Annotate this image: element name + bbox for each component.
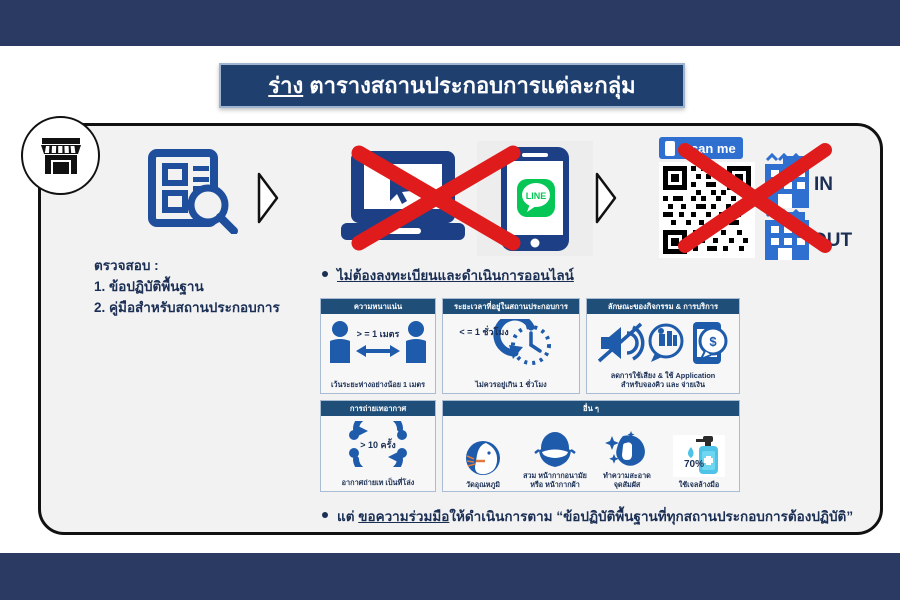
storefront-badge (21, 116, 100, 195)
title-main: ตารางสถานประกอบการแต่ละกลุ่ม (303, 73, 635, 98)
others-item-cleaning-caption-line2: จุดสัมผัส (603, 480, 651, 489)
in-label: IN (814, 174, 833, 195)
line-label: LINE (526, 191, 547, 201)
page-title: ร่าง ตารางสถานประกอบการแต่ละกลุ่ม (268, 75, 635, 97)
out-label: OUT (812, 230, 853, 251)
bullet-bottom-suffix: ให้ดำเนินการตาม “ข้อปฏิบัติพื้นฐานที่ทุก… (449, 509, 853, 524)
flow-arrow-1 (256, 171, 280, 230)
triangle-right-arrow-icon (594, 171, 618, 225)
title-prefix: ร่าง (268, 73, 303, 98)
document-search-icon (146, 148, 242, 234)
flow-arrow-2 (594, 171, 618, 230)
card-density-caption: เว้นระยะห่างอย่างน้อย 1 เมตร (331, 380, 425, 389)
face-mask-icon (533, 430, 577, 468)
card-density-body: > = 1 เมตร เว้นระยะห่างอย่างน้อย 1 เมตร (321, 314, 435, 393)
card-ventilation-caption: อากาศถ่ายเท เป็นที่โล่ง (342, 478, 415, 487)
bullet-dot-icon (322, 271, 328, 277)
flow-step-online-registration: LINE (341, 141, 593, 261)
hand-sanitizer-icon: 70% (673, 435, 725, 477)
svg-text:$: $ (709, 334, 717, 349)
bullet-bottom-prefix: แต่ (337, 509, 358, 524)
slide-title-banner: ร่าง ตารางสถานประกอบการแต่ละกลุ่ม (219, 63, 685, 108)
bullet-dot-icon (322, 512, 328, 518)
activity-icons-group: $ (593, 319, 733, 367)
bullet-top-text: ไม่ต้องลงทะเบียนและดำเนินการออนไลน์ (337, 264, 574, 286)
checklist-heading: ตรวจสอบ : (94, 256, 309, 277)
duration-metric-label: < = 1 ชั่วโมง (459, 325, 508, 337)
speaker-muted-icon (599, 324, 643, 361)
bullet-bottom-underlined: ขอความร่วมมือ (358, 509, 449, 524)
laptop-cursor-icon: LINE (341, 141, 593, 256)
card-ventilation: การถ่ายเทอากาศ > 10 ครั้ง อากาศถ่ายเท เป… (320, 400, 436, 492)
card-activity-header: ลักษณะของกิจกรรม & การบริการ (587, 299, 739, 314)
building-out-icon (765, 211, 809, 260)
others-item-temperature-caption: วัดอุณหภูมิ (466, 480, 500, 489)
card-activity-body: $ ลดการใช้เสียง & ใช้ Application สำหรับ… (587, 314, 739, 393)
bullet-no-online-registration: ไม่ต้องลงทะเบียนและดำเนินการออนไลน์ (322, 264, 574, 286)
others-item-cleaning-caption-line1: ทำความสะอาด (603, 471, 651, 480)
sanitizer-percent-badge: 70% (684, 459, 704, 470)
density-metric-label: > = 1 เมตร (357, 329, 400, 339)
others-items-list: วัดอุณหภูมิ สวม หน้ากากอนามัย (443, 416, 739, 491)
cleaning-hand-icon (605, 430, 649, 468)
others-item-temperature: วัดอุณหภูมิ (448, 439, 518, 489)
checklist-item-1: 1. ข้อปฏิบัติพื้นฐาน (94, 277, 309, 298)
two-people-distance-icon: > = 1 เมตร (326, 319, 430, 365)
ventilation-metric-label: > 10 ครั้ง (360, 438, 396, 450)
checklist-block: ตรวจสอบ : 1. ข้อปฏิบัติพื้นฐาน 2. คู่มือ… (94, 256, 309, 319)
guideline-cards-row-1: ความหนาแน่น > = 1 เมตร เว้นระยะห่างอย่าง… (320, 298, 740, 394)
others-item-sanitizer-caption: ใช้เจลล้างมือ (679, 480, 719, 489)
queue-chat-icon (650, 325, 682, 362)
qr-code-icon: Scan me (651, 134, 856, 264)
bullet-cooperation-request: แต่ ขอความร่วมมือให้ดำเนินการตาม “ข้อปฏิ… (322, 505, 882, 527)
flow-step-check (146, 148, 242, 239)
others-item-mask-caption-line1: สวม หน้ากากอนามัย (523, 471, 587, 480)
checklist-item-2: 2. คู่มือสำหรับสถานประกอบการ (94, 298, 309, 319)
card-density-header: ความหนาแน่น (321, 299, 435, 314)
others-item-mask: สวม หน้ากากอนามัย หรือ หน้ากากผ้า (520, 430, 590, 489)
building-in-icon (765, 155, 809, 208)
card-others: อื่น ๆ วัดอุณหภูมิ (442, 400, 740, 492)
bullet-bottom-text: แต่ ขอความร่วมมือให้ดำเนินการตาม “ข้อปฏิ… (337, 505, 853, 527)
clock-arrow-icon: < = 1 ชั่วโมง (451, 319, 571, 367)
storefront-icon (39, 136, 83, 176)
others-item-mask-caption-line2: หรือ หน้ากากผ้า (523, 480, 587, 489)
card-activity-caption-line2: สำหรับจองคิว และ จ่ายเงิน (611, 380, 716, 389)
card-duration-caption: ไม่ควรอยู่เกิน 1 ชั่วโมง (475, 380, 546, 389)
card-duration: ระยะเวลาที่อยู่ในสถานประกอบการ < = 1 ชั่… (442, 298, 580, 394)
others-item-cleaning: ทำความสะอาด จุดสัมผัส (592, 430, 662, 489)
card-density: ความหนาแน่น > = 1 เมตร เว้นระยะห่างอย่าง… (320, 298, 436, 394)
card-duration-header: ระยะเวลาที่อยู่ในสถานประกอบการ (443, 299, 579, 314)
flow-step-qr-checkin: Scan me (651, 134, 856, 269)
process-flow-row: LINE Scan me (41, 126, 886, 271)
card-activity-caption: ลดการใช้เสียง & ใช้ Application สำหรับจอ… (611, 371, 716, 389)
card-others-body: วัดอุณหภูมิ สวม หน้ากากอนามัย (443, 416, 739, 491)
scan-me-label: Scan me (682, 141, 735, 156)
card-activity-caption-line1: ลดการใช้เสียง & ใช้ Application (611, 371, 716, 380)
bottom-navy-bar (0, 553, 900, 600)
top-navy-bar (0, 0, 900, 46)
card-duration-body: < = 1 ชั่วโมง ไม่ควรอยู่เกิน 1 ชั่วโมง (443, 314, 579, 393)
card-ventilation-header: การถ่ายเทอากาศ (321, 401, 435, 416)
others-item-mask-caption: สวม หน้ากากอนามัย หรือ หน้ากากผ้า (523, 471, 587, 489)
phone-payment-icon: $ (693, 322, 726, 364)
guideline-cards-row-2: การถ่ายเทอากาศ > 10 ครั้ง อากาศถ่ายเท เป… (320, 400, 740, 492)
others-item-cleaning-caption: ทำความสะอาด จุดสัมผัส (603, 471, 651, 489)
slide-root: ร่าง ตารางสถานประกอบการแต่ละกลุ่ม (0, 0, 900, 600)
thermometer-face-icon (462, 439, 504, 477)
card-ventilation-body: > 10 ครั้ง อากาศถ่ายเท เป็นที่โล่ง (321, 416, 435, 491)
guideline-cards-grid: ความหนาแน่น > = 1 เมตร เว้นระยะห่างอย่าง… (320, 298, 740, 498)
air-circulation-icon: > 10 ครั้ง (328, 421, 428, 467)
card-others-header: อื่น ๆ (443, 401, 739, 416)
card-activity: ลักษณะของกิจกรรม & การบริการ (586, 298, 740, 394)
triangle-right-arrow-icon (256, 171, 280, 225)
others-item-sanitizer: 70% ใช้เจลล้างมือ (664, 435, 734, 489)
